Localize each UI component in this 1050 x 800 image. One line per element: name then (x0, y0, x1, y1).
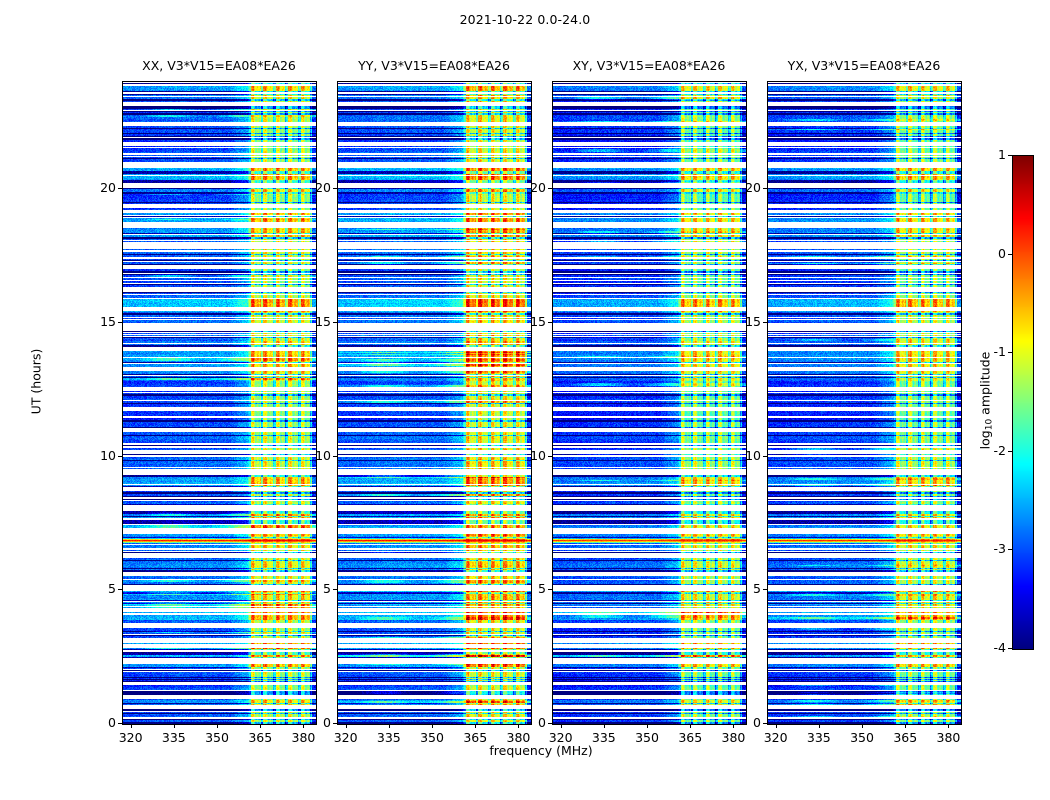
colorbar-tick-label: -3 (968, 541, 1006, 556)
colorbar-label-subscript: 10 (985, 419, 995, 430)
y-tick-label: 0 (506, 715, 546, 730)
colorbar-tick-mark (1008, 352, 1012, 353)
y-tick-label: 10 (721, 448, 761, 463)
colorbar[interactable] (1012, 155, 1034, 650)
x-tick-label: 380 (923, 730, 973, 745)
colorbar-tick-label: 0 (968, 246, 1006, 261)
colorbar-tick-mark (1008, 549, 1012, 550)
y-tick-mark (118, 188, 122, 189)
x-tick-mark (389, 724, 390, 728)
heatmap-canvas-xy (553, 82, 746, 724)
x-tick-mark (905, 724, 906, 728)
y-tick-mark (548, 322, 552, 323)
colorbar-label: log10 amplitude (978, 301, 993, 501)
y-tick-mark (118, 322, 122, 323)
colorbar-tick-label: 1 (968, 147, 1006, 162)
y-tick-mark (763, 723, 767, 724)
y-tick-label: 15 (291, 314, 331, 329)
x-tick-mark (561, 724, 562, 728)
y-tick-mark (333, 456, 337, 457)
y-tick-mark (118, 456, 122, 457)
y-tick-label: 10 (291, 448, 331, 463)
heatmap-canvas-xx (123, 82, 316, 724)
y-tick-label: 5 (721, 581, 761, 596)
y-tick-mark (763, 188, 767, 189)
x-tick-mark (819, 724, 820, 728)
y-tick-label: 20 (506, 180, 546, 195)
y-tick-label: 5 (76, 581, 116, 596)
y-tick-mark (548, 589, 552, 590)
y-tick-mark (118, 723, 122, 724)
y-axis-label: UT (hours) (29, 322, 44, 442)
y-tick-mark (333, 723, 337, 724)
y-tick-mark (763, 322, 767, 323)
heatmap-panel-xy[interactable] (552, 81, 747, 725)
colorbar-tick-mark (1008, 451, 1012, 452)
y-tick-mark (763, 456, 767, 457)
y-tick-label: 10 (76, 448, 116, 463)
y-tick-label: 15 (506, 314, 546, 329)
y-tick-label: 0 (721, 715, 761, 730)
x-tick-mark (217, 724, 218, 728)
x-tick-mark (862, 724, 863, 728)
panel-title-yx: YX, V3*V15=EA08*EA26 (767, 58, 961, 73)
panel-title-yy: YY, V3*V15=EA08*EA26 (337, 58, 531, 73)
colorbar-tick-mark (1008, 648, 1012, 649)
y-tick-mark (333, 188, 337, 189)
heatmap-panel-xx[interactable] (122, 81, 317, 725)
x-tick-mark (174, 724, 175, 728)
heatmap-panel-yx[interactable] (767, 81, 962, 725)
x-tick-mark (432, 724, 433, 728)
y-tick-mark (763, 589, 767, 590)
y-tick-label: 15 (721, 314, 761, 329)
colorbar-canvas (1013, 156, 1033, 649)
y-tick-label: 20 (76, 180, 116, 195)
x-tick-mark (475, 724, 476, 728)
y-tick-label: 0 (291, 715, 331, 730)
x-tick-mark (948, 724, 949, 728)
heatmap-panel-yy[interactable] (337, 81, 532, 725)
y-tick-label: 5 (506, 581, 546, 596)
spectrum-waterfall-figure: 2021-10-22 0.0-24.0 XX, V3*V15=EA08*EA26… (0, 0, 1050, 800)
y-tick-label: 20 (291, 180, 331, 195)
panel-title-xx: XX, V3*V15=EA08*EA26 (122, 58, 316, 73)
x-tick-mark (647, 724, 648, 728)
x-axis-label: frequency (MHz) (391, 743, 691, 758)
x-tick-mark (776, 724, 777, 728)
heatmap-canvas-yy (338, 82, 531, 724)
y-tick-label: 5 (291, 581, 331, 596)
x-tick-mark (690, 724, 691, 728)
heatmap-canvas-yx (768, 82, 961, 724)
figure-suptitle: 2021-10-22 0.0-24.0 (0, 12, 1050, 27)
colorbar-tick-label: -4 (968, 640, 1006, 655)
colorbar-tick-label: -2 (968, 443, 1006, 458)
x-tick-mark (604, 724, 605, 728)
colorbar-label-suffix: amplitude (978, 352, 993, 419)
y-tick-mark (118, 589, 122, 590)
y-tick-label: 10 (506, 448, 546, 463)
y-tick-mark (548, 456, 552, 457)
colorbar-tick-mark (1008, 254, 1012, 255)
y-tick-mark (548, 188, 552, 189)
x-tick-mark (131, 724, 132, 728)
y-tick-mark (333, 322, 337, 323)
y-tick-mark (333, 589, 337, 590)
colorbar-tick-mark (1008, 155, 1012, 156)
x-tick-mark (346, 724, 347, 728)
y-tick-label: 15 (76, 314, 116, 329)
panel-title-xy: XY, V3*V15=EA08*EA26 (552, 58, 746, 73)
x-tick-mark (260, 724, 261, 728)
y-tick-mark (548, 723, 552, 724)
y-tick-label: 20 (721, 180, 761, 195)
colorbar-tick-label: -1 (968, 344, 1006, 359)
y-tick-label: 0 (76, 715, 116, 730)
